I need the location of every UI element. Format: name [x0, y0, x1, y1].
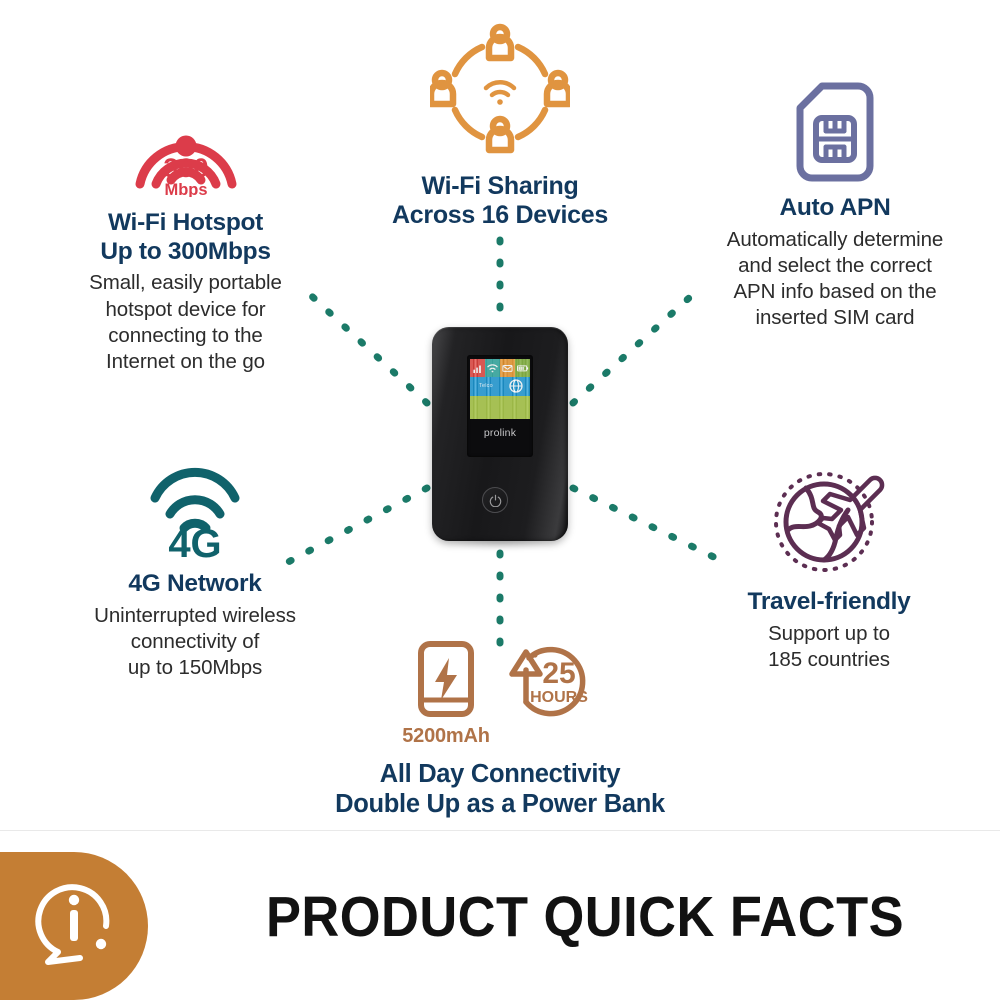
feature-wifi-sharing: Wi-Fi Sharing Across 16 Devices [366, 22, 634, 231]
feature-4g-network: 4G 4G Network Uninterrupted wireless con… [58, 462, 332, 681]
banner-title: PRODUCT QUICK FACTS [222, 884, 949, 950]
device-front-panel: Telco prolink [467, 355, 533, 457]
envelope-icon [500, 359, 515, 377]
ray-up-right [573, 288, 700, 403]
feature-wifi-hotspot: 300 Mbps Wi-Fi Hotspot Up to 300Mbps Sma… [43, 92, 328, 375]
feature-travel-friendly: Travel-friendly Support up to 185 countr… [700, 466, 958, 673]
feature-body: Automatically determine and select the c… [690, 227, 980, 332]
icon-container: 4G [58, 462, 332, 558]
feature-body-line4: inserted SIM card [690, 305, 980, 331]
device-body: Telco prolink [432, 327, 568, 541]
feature-title-line1: Wi-Fi Sharing [366, 172, 634, 201]
wifi-sharing-devices-icon [430, 22, 570, 162]
icon-container [690, 82, 980, 182]
feature-title-line1: Travel-friendly [700, 588, 958, 617]
icon-speed-unit: Mbps [164, 181, 207, 197]
icon-container [366, 22, 634, 162]
person-bottom [489, 119, 511, 150]
screen-tile-row [470, 359, 530, 377]
hours-value: 25 [542, 657, 575, 690]
globe-airplane-icon [770, 466, 888, 576]
feature-title-line1: Auto APN [690, 194, 980, 223]
person-left [431, 73, 453, 104]
signal-bars-tile [470, 359, 485, 377]
screen-bottom-row [470, 396, 530, 419]
battery-tile [515, 359, 530, 377]
wifi-tile [485, 359, 500, 377]
feature-title-line2: Up to 300Mbps [43, 238, 328, 267]
wifi-signal-300mbps-icon: 300 Mbps [126, 92, 246, 197]
feature-title: Wi-Fi Hotspot Up to 300Mbps [43, 209, 328, 266]
screen-telco-row: Telco [470, 377, 530, 396]
feature-body-line1: Support up to [700, 621, 958, 647]
icon-4g-label: 4G [168, 522, 221, 558]
feature-body-line2: hotspot device for [43, 297, 328, 323]
battery-capacity-label: 5200mAh [402, 725, 490, 748]
feature-body-line4: Internet on the go [43, 349, 328, 375]
power-bank-group: 5200mAh [402, 640, 490, 748]
globe-icon [509, 379, 523, 393]
battery-icon [515, 359, 530, 377]
feature-body: Uninterrupted wireless connectivity of u… [58, 603, 332, 682]
power-bank-icon [413, 640, 479, 718]
25-hours-icon: 25 HOURS [502, 640, 598, 724]
device-screen: Telco [470, 359, 530, 419]
feature-title: All Day Connectivity Double Up as a Powe… [320, 760, 680, 820]
icon-speed-value: 300 [163, 153, 208, 183]
feature-all-day-connectivity: 5200mAh 25 HOURS All Day Connectivity Do… [320, 640, 680, 820]
power-button[interactable] [482, 487, 508, 513]
feature-body-line1: Uninterrupted wireless [58, 603, 332, 629]
hours-unit: HOURS [530, 689, 588, 706]
feature-title-line2: Across 16 Devices [366, 201, 634, 230]
feature-title: Travel-friendly [700, 588, 958, 617]
signal-bars-icon [470, 359, 485, 377]
banner-top-divider [0, 830, 1000, 831]
feature-body-line2: connectivity of [58, 629, 332, 655]
infographic-page: 300 Mbps Wi-Fi Hotspot Up to 300Mbps Sma… [0, 0, 1000, 1000]
message-tile [500, 359, 515, 377]
feature-body-line1: Small, easily portable [43, 270, 328, 296]
feature-title-line1: All Day Connectivity [320, 760, 680, 790]
feature-title-line2: Double Up as a Power Bank [320, 790, 680, 820]
person-right [547, 73, 569, 104]
feature-auto-apn: Auto APN Automatically determine and sel… [690, 82, 980, 332]
product-device-image: Telco prolink [432, 327, 568, 551]
person-top [489, 27, 511, 58]
feature-body: Support up to 185 countries [700, 621, 958, 673]
feature-title: Auto APN [690, 194, 980, 223]
feature-body-line3: APN info based on the [690, 279, 980, 305]
bottom-banner: PRODUCT QUICK FACTS [0, 830, 1000, 1000]
info-speech-bubble-icon [28, 870, 124, 966]
icon-container [700, 466, 958, 576]
hours-group: 25 HOURS [502, 640, 598, 729]
feature-title: Wi-Fi Sharing Across 16 Devices [366, 172, 634, 231]
power-icon [489, 494, 502, 507]
feature-body-line3: up to 150Mbps [58, 655, 332, 681]
feature-body-line2: 185 countries [700, 647, 958, 673]
icon-container: 5200mAh 25 HOURS [320, 640, 680, 748]
wifi-icon [485, 359, 500, 377]
icon-container: 300 Mbps [43, 92, 328, 197]
feature-title-line1: 4G Network [58, 570, 332, 599]
feature-title: 4G Network [58, 570, 332, 599]
device-brand-label: prolink [467, 427, 533, 439]
feature-body-line3: connecting to the [43, 323, 328, 349]
sim-card-icon [796, 82, 874, 182]
feature-body-line2: and select the correct [690, 253, 980, 279]
telco-label: Telco [479, 383, 493, 389]
4g-signal-icon: 4G [147, 462, 243, 558]
feature-body-line1: Automatically determine [690, 227, 980, 253]
feature-title-line1: Wi-Fi Hotspot [43, 209, 328, 238]
feature-body: Small, easily portable hotspot device fo… [43, 270, 328, 375]
